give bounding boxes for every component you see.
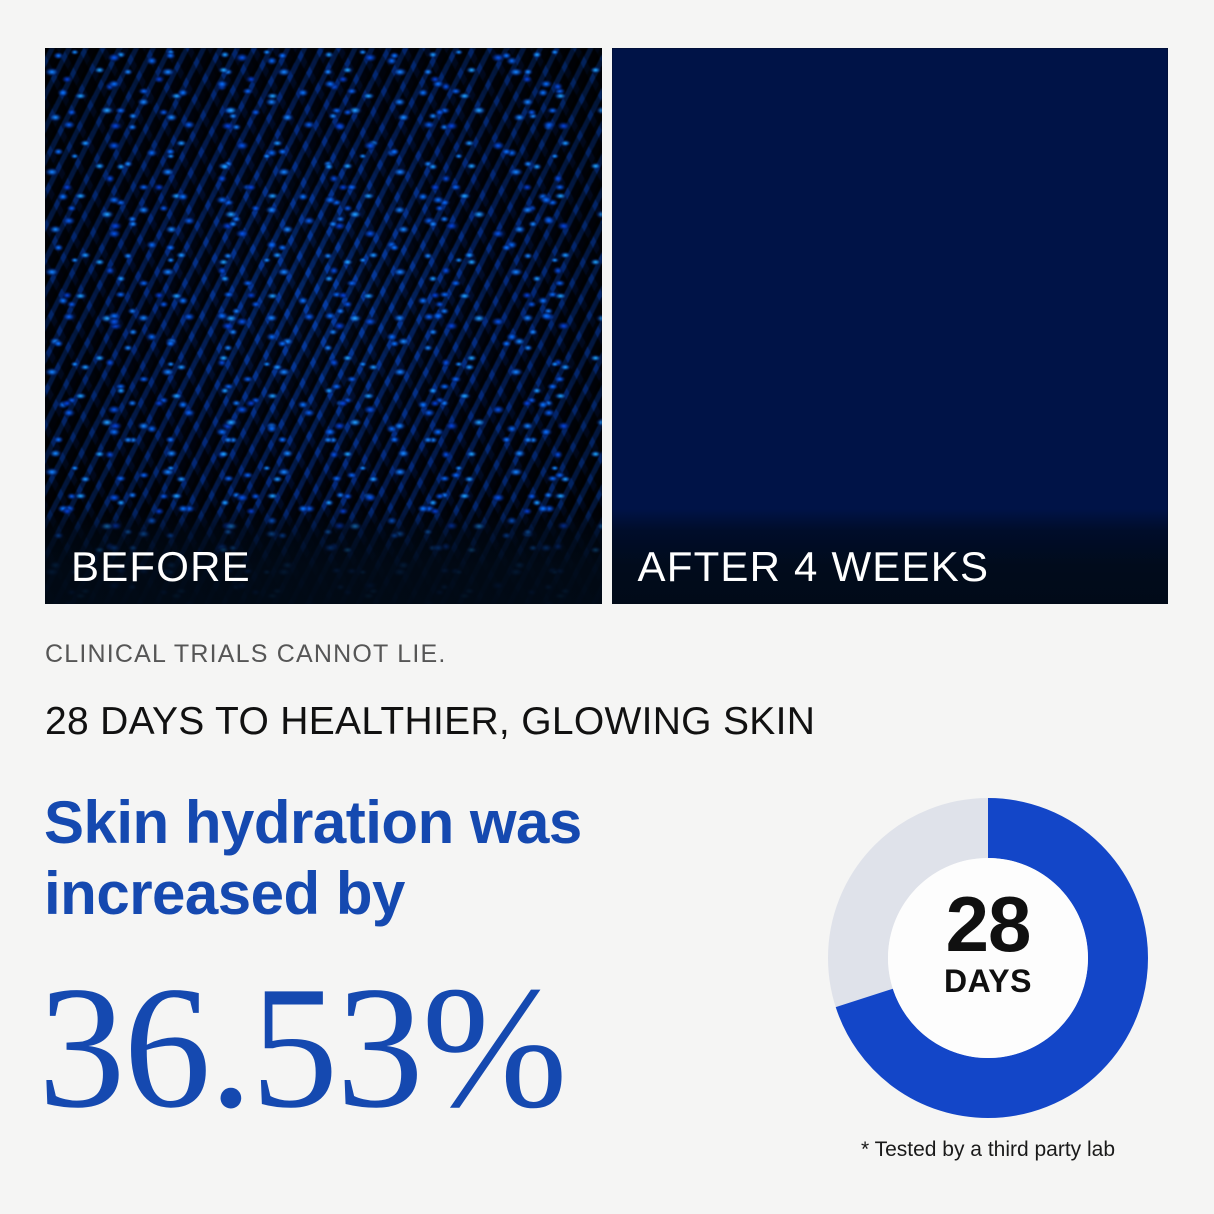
infographic-canvas: BEFORE AFTER 4 WEEKS CLINICAL TRIALS CAN… bbox=[0, 0, 1214, 1214]
before-after-comparison: BEFORE AFTER 4 WEEKS bbox=[45, 48, 1168, 604]
page-title: 28 DAYS TO HEALTHIER, GLOWING SKIN bbox=[45, 700, 815, 744]
footnote-text: * Tested by a third party lab bbox=[823, 1138, 1153, 1162]
skin-hydration-scan-after-image bbox=[612, 48, 1169, 604]
statistic-value: 36.53% bbox=[38, 960, 566, 1135]
eyebrow-text: CLINICAL TRIALS CANNOT LIE. bbox=[45, 640, 447, 669]
donut-hole bbox=[888, 858, 1088, 1058]
panel-before-label: BEFORE bbox=[71, 546, 251, 588]
panel-after: AFTER 4 WEEKS bbox=[612, 48, 1169, 604]
panel-before: BEFORE bbox=[45, 48, 602, 604]
claim-text: Skin hydration was increased by bbox=[44, 788, 764, 930]
panel-after-label: AFTER 4 WEEKS bbox=[638, 546, 990, 588]
skin-hydration-scan-before-image bbox=[45, 48, 602, 604]
days-donut-chart: 28 DAYS bbox=[823, 793, 1153, 1123]
